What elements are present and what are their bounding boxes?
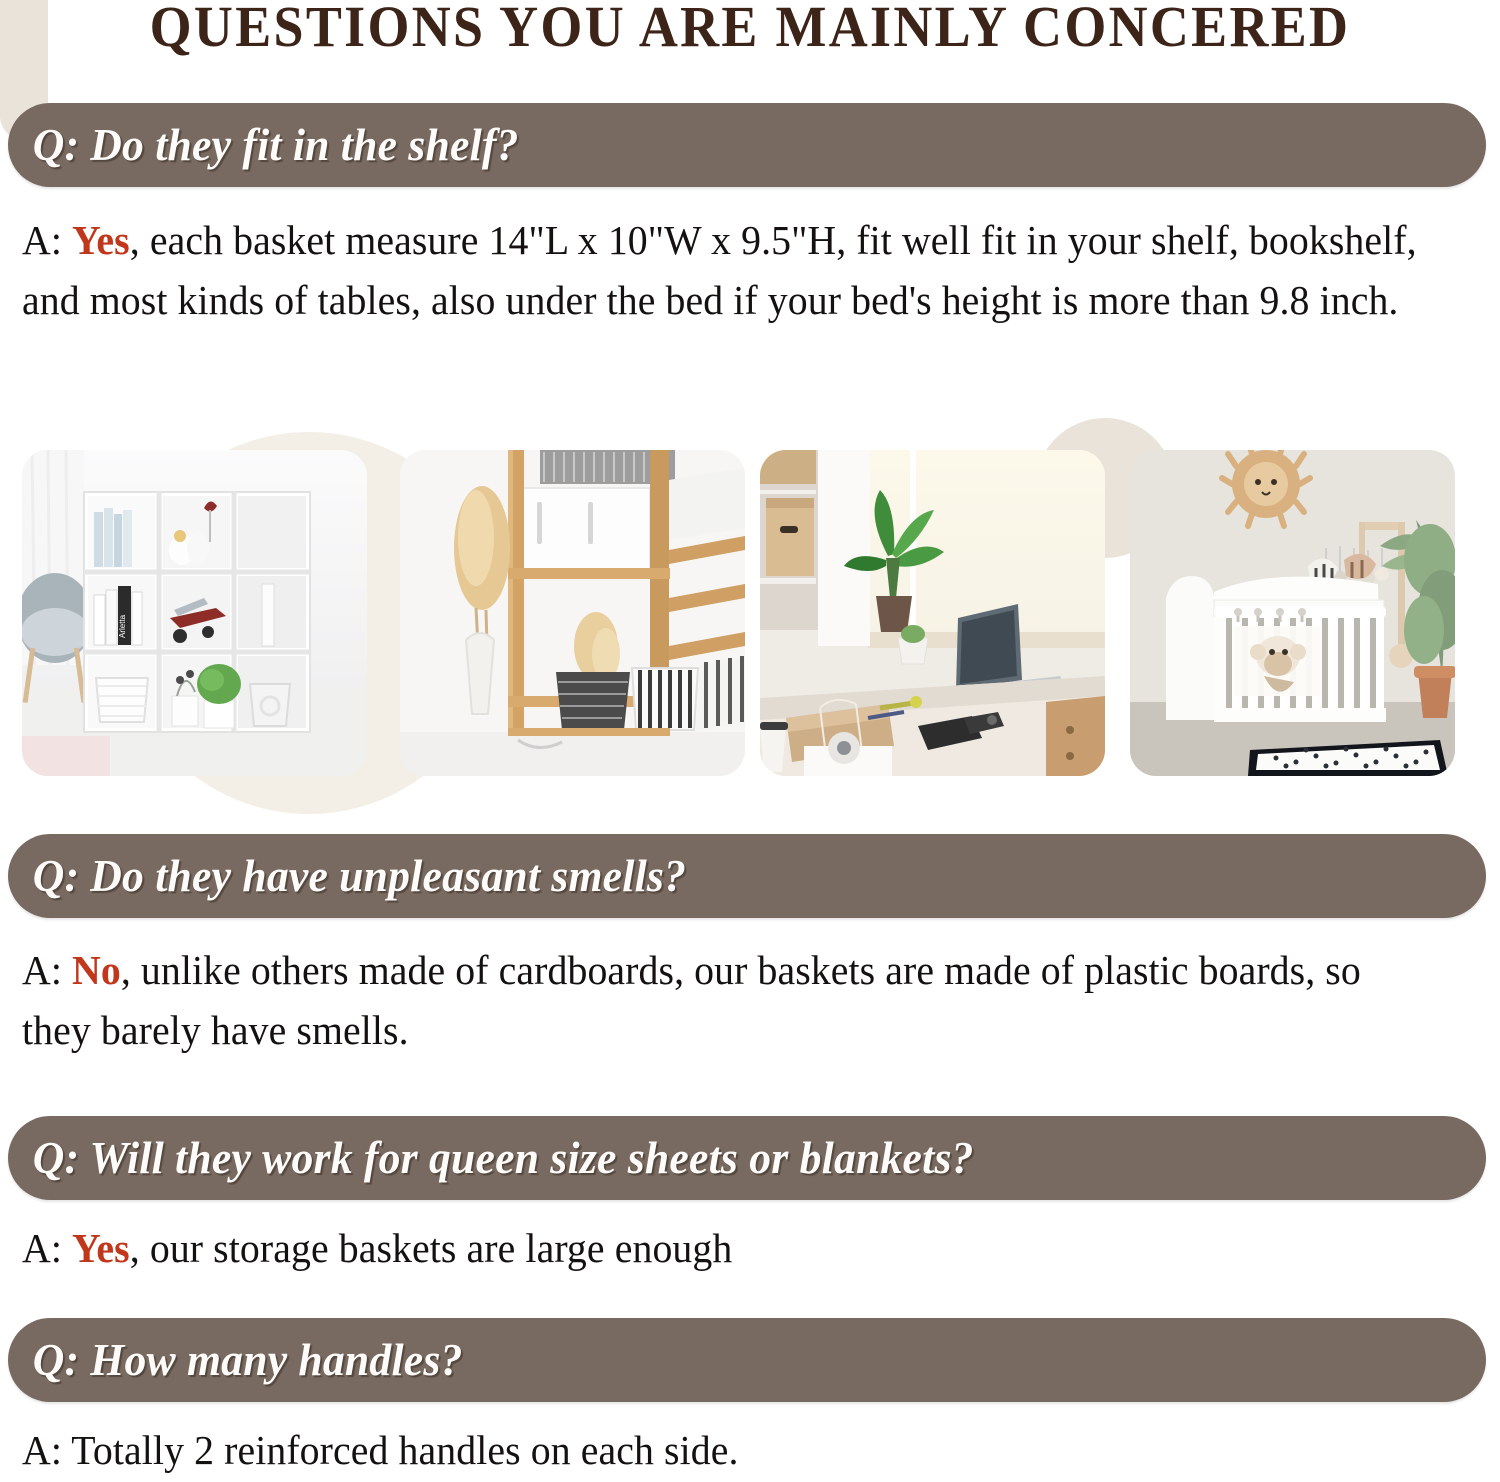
answer-highlight-3: Yes [72, 1225, 130, 1271]
question-label-4: Q: How many handles? [8, 1335, 463, 1385]
answer-text-2: A: No, unlike others made of cardboards,… [22, 940, 1430, 1060]
answer-body-4: Totally 2 reinforced handles on each sid… [71, 1427, 738, 1473]
answer-prefix-3: A: [22, 1225, 72, 1271]
answer-text-1: A: Yes, each basket measure 14"L x 10"W … [22, 210, 1430, 330]
svg-text:Arletta: Arletta [118, 614, 127, 638]
answer-prefix-4: A: [22, 1427, 71, 1473]
question-banner-1[interactable]: Q: Do they fit in the shelf? [8, 103, 1486, 187]
answer-body-1: , each basket measure 14"L x 10"W x 9.5"… [22, 217, 1417, 323]
question-label-1: Q: Do they fit in the shelf? [8, 120, 519, 170]
answer-prefix-2: A: [22, 947, 72, 993]
answer-prefix-1: A: [22, 217, 72, 263]
photo-bamboo-shelving [400, 450, 745, 776]
photo-nursery-crib [1130, 450, 1455, 776]
answer-highlight-1: Yes [72, 217, 130, 263]
photo-home-office-desk [760, 450, 1105, 776]
answer-body-3: , our storage baskets are large enough [130, 1225, 733, 1271]
answer-body-2: , unlike others made of cardboards, our … [22, 947, 1361, 1053]
photo-white-cube-bookshelf: Arletta [22, 450, 367, 776]
question-label-3: Q: Will they work for queen size sheets … [8, 1133, 974, 1183]
answer-text-4: A: Totally 2 reinforced handles on each … [22, 1420, 1430, 1480]
page-title: QUESTIONS YOU ARE MAINLY CONCERED [53, 0, 1448, 58]
question-banner-3[interactable]: Q: Will they work for queen size sheets … [8, 1116, 1486, 1200]
answer-highlight-2: No [72, 947, 121, 993]
answer-text-3: A: Yes, our storage baskets are large en… [22, 1218, 1430, 1278]
question-label-2: Q: Do they have unpleasant smells? [8, 851, 686, 901]
photo-gallery: Arletta [0, 450, 1500, 780]
question-banner-4[interactable]: Q: How many handles? [8, 1318, 1486, 1402]
question-banner-2[interactable]: Q: Do they have unpleasant smells? [8, 834, 1486, 918]
